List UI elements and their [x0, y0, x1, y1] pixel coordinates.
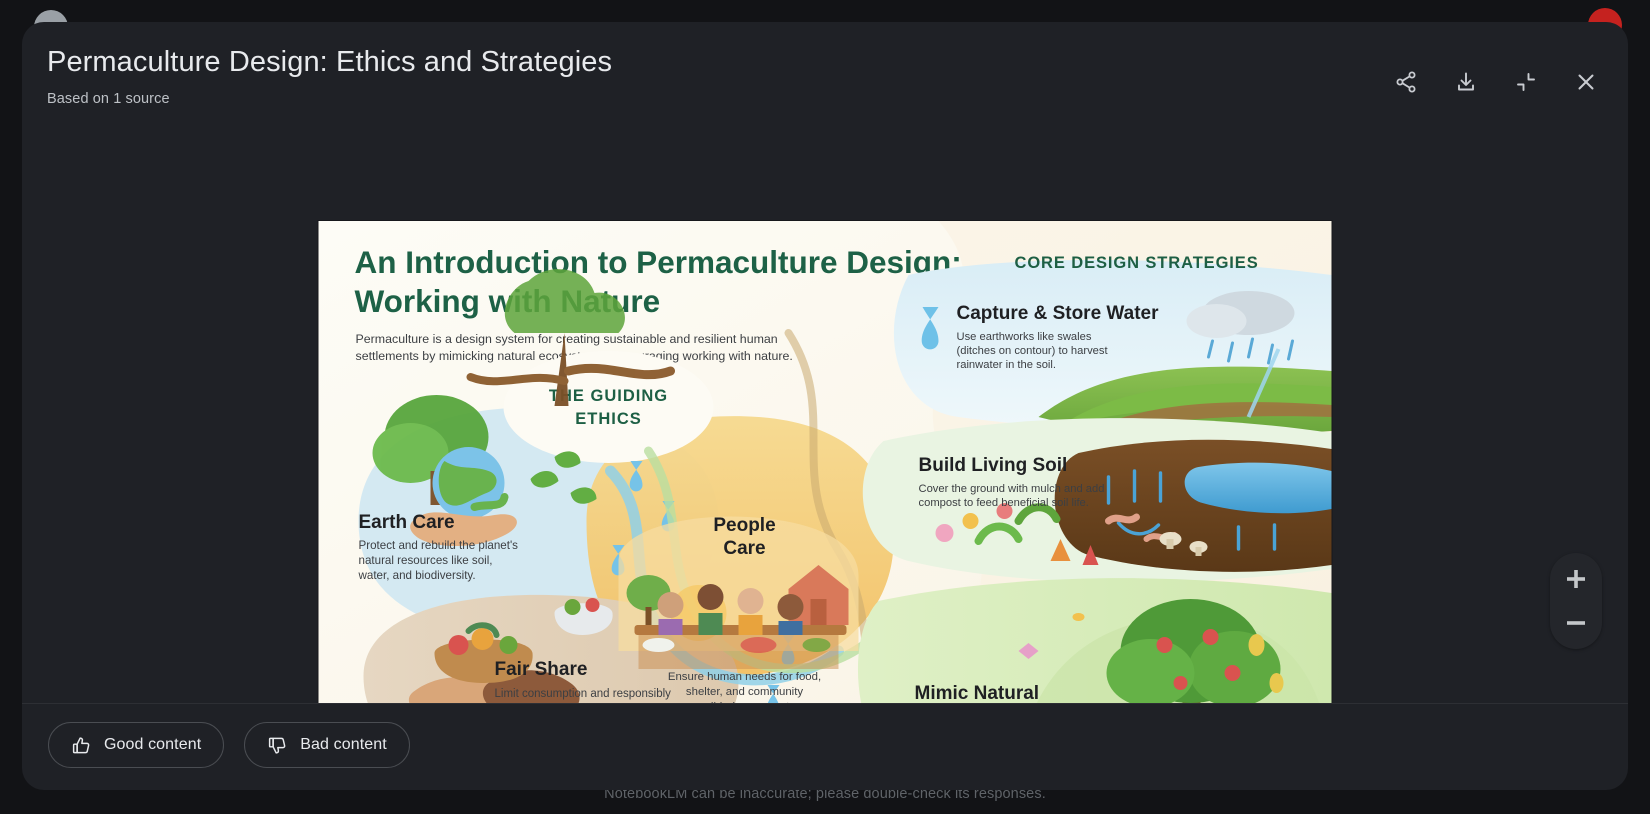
build-soil-heading: Build Living Soil	[919, 455, 1068, 476]
page-title: Permaculture Design: Ethics and Strategi…	[47, 46, 1598, 79]
download-icon	[1454, 70, 1478, 94]
share-button[interactable]	[1386, 62, 1426, 102]
minus-icon	[1565, 612, 1587, 634]
earth-care-line1: Protect and rebuild the planet's	[359, 539, 519, 552]
build-soil-line1: Cover the ground with mulch and add	[919, 483, 1105, 495]
infographic-svg: An Introduction to Permaculture Design: …	[319, 221, 1332, 703]
fair-share-heading-visible: Fair Share	[495, 659, 588, 680]
modal-header: Permaculture Design: Ethics and Strategi…	[22, 22, 1628, 115]
infographic-intro-line1: Permaculture is a design system for crea…	[356, 332, 778, 346]
earth-care-line2: natural resources like soil,	[359, 554, 493, 567]
close-button[interactable]	[1566, 62, 1606, 102]
good-content-label: Good content	[104, 736, 201, 754]
artifact-viewer-modal: Permaculture Design: Ethics and Strategi…	[22, 22, 1628, 790]
capture-water-heading: Capture & Store Water	[957, 303, 1160, 324]
infographic-image[interactable]: An Introduction to Permaculture Design: …	[319, 221, 1332, 703]
plus-icon	[1565, 568, 1587, 590]
zoom-controls	[1550, 553, 1602, 649]
capture-water-line2: (ditches on contour) to harvest	[957, 345, 1109, 357]
core-strategies-label: CORE DESIGN STRATEGIES	[1015, 254, 1259, 272]
people-care-line2: shelter, and community	[686, 686, 803, 698]
bad-content-button[interactable]: Bad content	[244, 722, 410, 768]
fair-share-line1: Limit consumption and responsibly	[495, 688, 672, 700]
zoom-out-button[interactable]	[1554, 601, 1598, 645]
mimic-heading-line1: Mimic Natural	[915, 683, 1040, 703]
share-icon	[1394, 70, 1418, 94]
capture-water-line1: Use earthworks like swales	[957, 331, 1092, 343]
collapse-button[interactable]	[1506, 62, 1546, 102]
infographic-title-line1: An Introduction to Permaculture Design:	[355, 244, 962, 280]
earth-care-line3: water, and biodiversity.	[358, 569, 476, 582]
artifact-canvas: An Introduction to Permaculture Design: …	[22, 115, 1628, 703]
download-button[interactable]	[1446, 62, 1486, 102]
people-care-heading-line1: People	[713, 515, 775, 536]
guiding-ethics-label-line2: ETHICS	[575, 410, 642, 428]
close-icon	[1574, 70, 1598, 94]
source-count-label: Based on 1 source	[47, 91, 1598, 107]
header-actions	[1386, 62, 1606, 102]
people-care-line1: Ensure human needs for food,	[668, 671, 821, 683]
earth-care-heading: Earth Care	[359, 512, 455, 533]
capture-water-line3: rainwater in the soil.	[957, 359, 1057, 371]
collapse-icon	[1514, 70, 1538, 94]
people-care-heading-line2: Care	[723, 538, 765, 559]
build-soil-line2: compost to feed beneficial soil life.	[919, 497, 1089, 509]
zoom-in-button[interactable]	[1554, 557, 1598, 601]
thumbs-down-icon	[267, 735, 288, 756]
good-content-button[interactable]: Good content	[48, 722, 224, 768]
feedback-bar: Good content Bad content	[22, 703, 1628, 790]
people-care-line3: well-being are met.	[695, 701, 792, 703]
app-root: NotebookLM can be inaccurate; please dou…	[0, 0, 1650, 814]
thumbs-up-icon	[71, 735, 92, 756]
bad-content-label: Bad content	[300, 736, 387, 754]
